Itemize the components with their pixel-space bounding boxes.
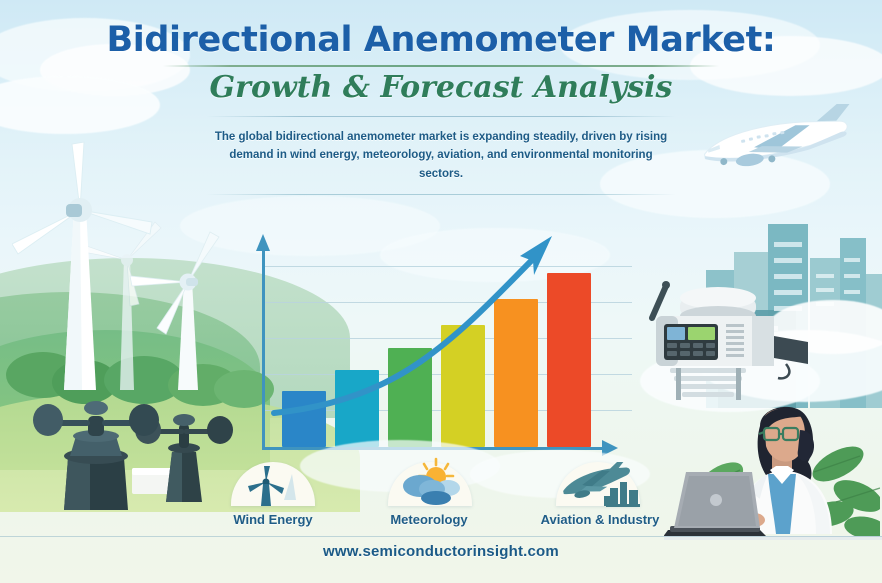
chart-bar [547, 273, 591, 447]
y-axis [262, 250, 265, 450]
cup-anemometer-illustration [24, 392, 239, 512]
title-divider [163, 65, 719, 67]
chart-bar [494, 299, 538, 447]
airplane-factory-icon [556, 462, 644, 508]
page-subtitle: Growth & Forecast Analysis [0, 71, 882, 104]
bar-group [282, 247, 612, 447]
wind-turbine-icon [240, 466, 306, 506]
page-title: Bidirectional Anemometer Market: [0, 22, 882, 59]
badge-label-meteorology: Meteorology [334, 512, 524, 527]
sun-cloud-icon [392, 456, 470, 506]
website-url[interactable]: www.semiconductorinsight.com [0, 543, 882, 560]
description-text: The global bidirectional anemometer mark… [206, 128, 676, 184]
header-block: Bidirectional Anemometer Market: Growth … [0, 22, 882, 195]
infographic-canvas: Bidirectional Anemometer Market: Growth … [0, 0, 882, 583]
chart-bar [282, 391, 326, 447]
subtitle-divider [206, 116, 676, 117]
chart-bar [388, 348, 432, 447]
y-axis-arrow-icon [256, 234, 270, 251]
footer-divider [0, 536, 882, 537]
badge-label-aviation-industry: Aviation & Industry [505, 512, 695, 527]
analyst-with-laptop-illustration [664, 400, 882, 540]
weather-station-illustration [636, 272, 816, 412]
chart-bar [335, 370, 379, 447]
chart-bar [441, 325, 485, 447]
description-divider [206, 194, 676, 195]
growth-bar-chart [252, 228, 616, 450]
